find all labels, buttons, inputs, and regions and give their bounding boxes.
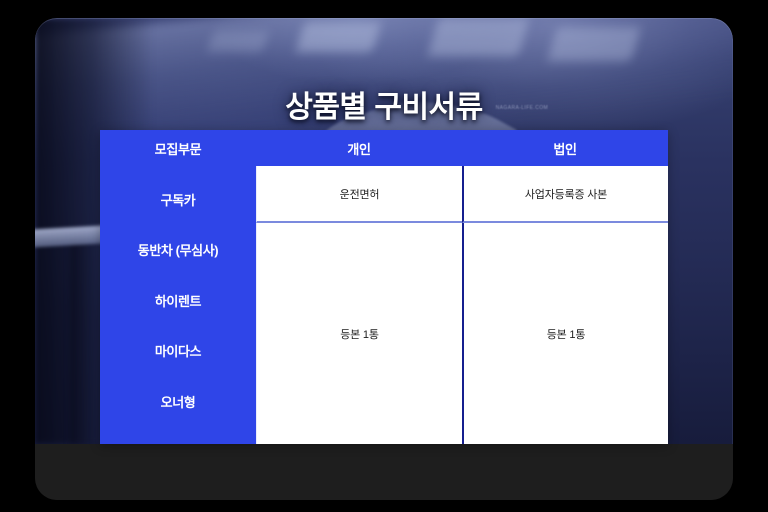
row-label: 구독카 (161, 194, 196, 208)
row-label: 동반차 (무심사) (138, 244, 218, 258)
row-label: 하이렌트 (155, 295, 201, 309)
table-header-category: 모집부문 (100, 130, 256, 166)
table-cell-individual-gudokcar: 운전면허 (256, 166, 462, 223)
row-label: 오너형 (161, 396, 196, 410)
table-cell-corporate-gudokcar: 사업자등록증 사본 (462, 166, 668, 223)
ceiling-light-panel (206, 31, 268, 52)
ceiling-light-panel (427, 18, 529, 56)
requirements-table: 모집부문 개인 법인 구독카 동반차 (무심사) 하이렌트 마이다스 오너형 운… (100, 130, 668, 444)
ceiling-light-panel (296, 22, 381, 52)
table-header-individual: 개인 (256, 130, 462, 166)
table-header-corporate: 법인 (462, 130, 668, 166)
ceiling-light-panel (547, 27, 641, 61)
table-cell-corporate-merged: 등본 1통 (462, 223, 668, 444)
table-cell-individual-merged: 등본 1통 (256, 223, 462, 444)
row-label: 마이다스 (155, 345, 201, 359)
card-footer-area (35, 444, 733, 500)
pillar (70, 240, 101, 444)
screenshot-root: NAGARA-LIFE.COM 상품별 구비서류 모집부문 개인 법인 구독카 … (0, 0, 768, 512)
content-card: NAGARA-LIFE.COM 상품별 구비서류 모집부문 개인 법인 구독카 … (35, 18, 733, 500)
row-label-column: 구독카 동반차 (무심사) 하이렌트 마이다스 오너형 (100, 166, 256, 444)
page-title: 상품별 구비서류 (35, 82, 733, 126)
